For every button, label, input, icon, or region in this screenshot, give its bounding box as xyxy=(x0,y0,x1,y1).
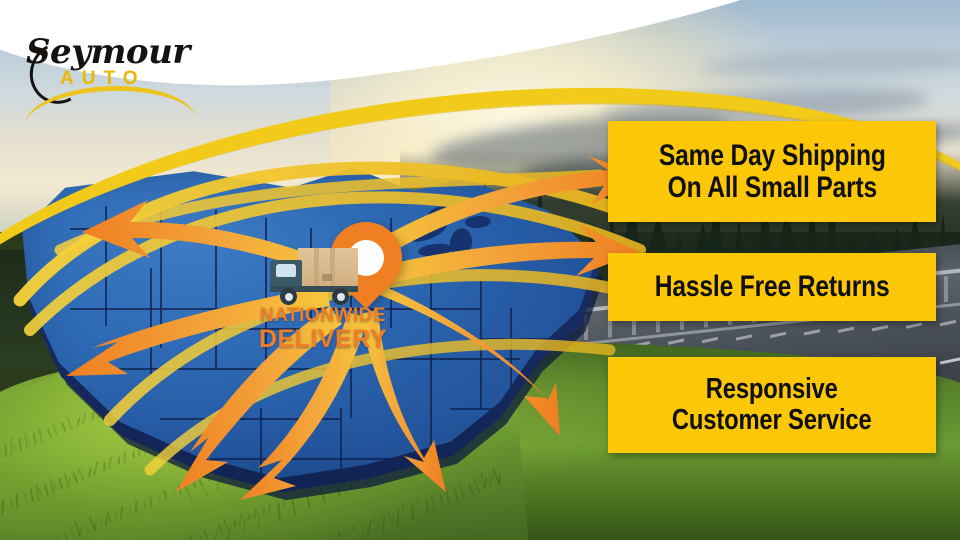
grass-blade xyxy=(337,531,341,538)
state-border xyxy=(160,418,340,420)
grass-blade xyxy=(69,527,75,540)
grass-blade xyxy=(376,520,379,534)
claim-3-line-2: Customer Service xyxy=(672,404,872,436)
lane-marking xyxy=(940,320,956,326)
grass-blade xyxy=(83,522,90,534)
grass-blade xyxy=(212,529,219,540)
grass-blade xyxy=(64,532,69,540)
grass-blade xyxy=(189,534,194,540)
grass-blade xyxy=(361,525,366,540)
grass-blade xyxy=(79,527,83,535)
claim-box-same-day-shipping[interactable]: Same Day Shipping On All Small Parts xyxy=(608,121,936,222)
lane-marking xyxy=(668,339,684,345)
grass-blade xyxy=(227,524,232,540)
state-border xyxy=(340,408,342,508)
grass-blade xyxy=(366,520,372,539)
lane-marking xyxy=(940,357,960,365)
lane-marking xyxy=(770,332,786,338)
claim-1-line-2: On All Small Parts xyxy=(667,171,876,204)
promo-banner: NATIONWIDE DELIVERY Seymour AUTO Same Da… xyxy=(0,0,960,540)
grass-blade xyxy=(55,532,61,540)
brand-logo[interactable]: Seymour AUTO xyxy=(18,16,208,100)
claim-3-line-1: Responsive xyxy=(706,373,838,405)
grass-blade xyxy=(4,444,7,458)
grass-blade xyxy=(0,449,1,459)
lane-marking xyxy=(804,329,820,335)
grass-blade xyxy=(218,524,223,533)
claim-box-hassle-free-returns[interactable]: Hassle Free Returns xyxy=(608,253,936,321)
lane-marking xyxy=(872,325,888,331)
claim-1-line-1: Same Day Shipping xyxy=(659,139,886,172)
claim-2-line-1: Hassle Free Returns xyxy=(655,270,890,303)
lane-marking xyxy=(736,334,752,340)
grass-blade xyxy=(1,498,3,514)
state-border xyxy=(210,458,390,460)
grass-blade xyxy=(198,534,202,540)
lane-marking xyxy=(838,327,854,333)
grass-blade xyxy=(203,529,208,539)
brand-name: Seymour xyxy=(26,32,190,72)
claim-box-responsive-customer-service[interactable]: Responsive Customer Service xyxy=(608,357,936,453)
lane-marking xyxy=(702,337,718,343)
grass-blade xyxy=(94,522,97,529)
lane-marking xyxy=(906,322,922,328)
grass-blade xyxy=(243,518,246,535)
grass-blade xyxy=(352,525,356,531)
